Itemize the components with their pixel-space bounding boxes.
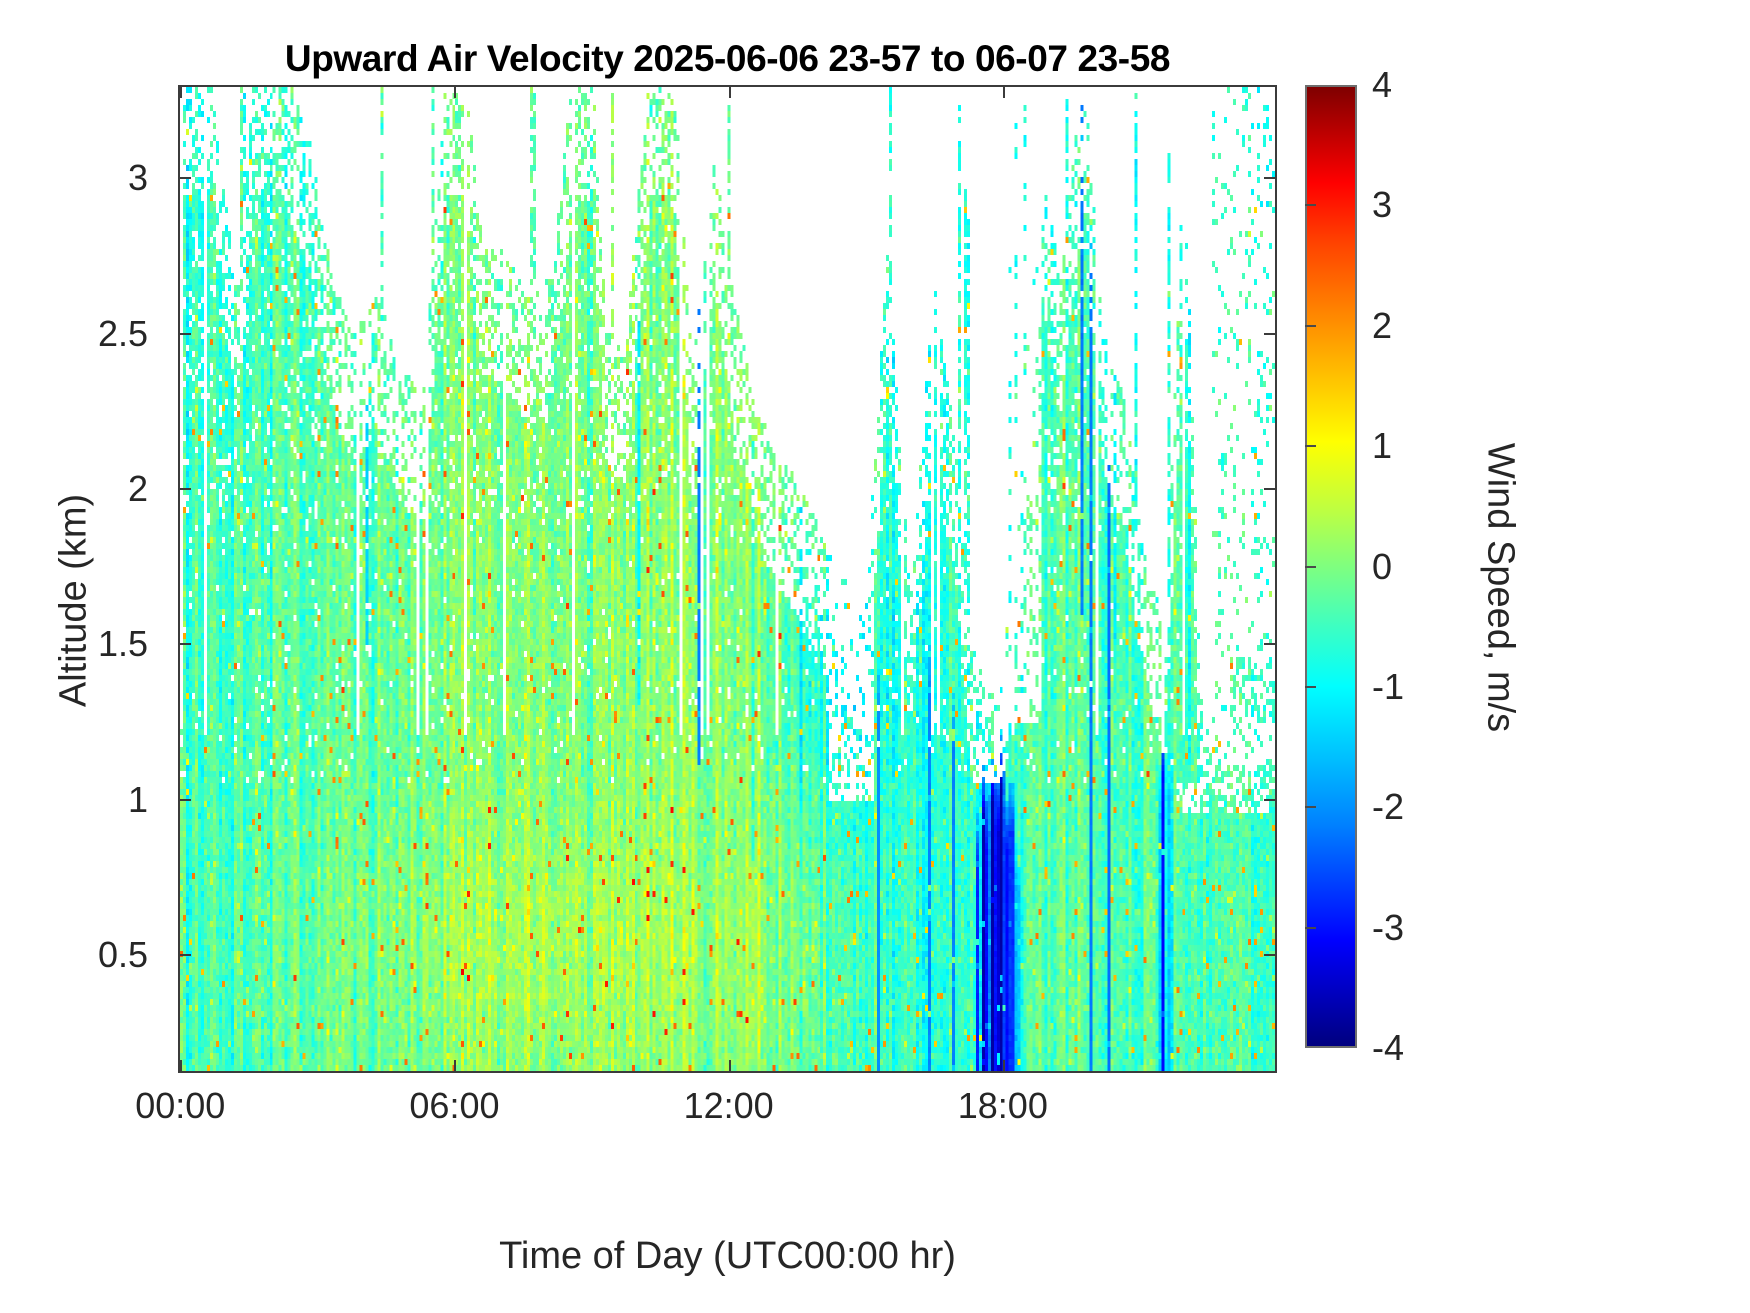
y-tick-mark-right — [1264, 177, 1277, 179]
y-tick-mark-right — [1264, 643, 1277, 645]
y-tick-mark — [178, 333, 191, 335]
colorbar-tick-mark — [1305, 204, 1316, 206]
y-tick-label: 2.5 — [0, 313, 148, 355]
x-tick-mark-top — [729, 85, 731, 98]
x-axis-label: Time of Day (UTC00:00 hr) — [178, 1235, 1277, 1278]
heatmap-image — [180, 87, 1275, 1071]
y-tick-mark-right — [1264, 799, 1277, 801]
y-tick-mark — [178, 488, 191, 490]
x-tick-label: 18:00 — [903, 1085, 1103, 1127]
colorbar-tick-label: 4 — [1372, 64, 1392, 106]
colorbar-tick-label: -4 — [1372, 1027, 1404, 1069]
y-tick-mark — [178, 177, 191, 179]
x-tick-mark — [454, 1060, 456, 1073]
colorbar-tick-mark — [1305, 686, 1316, 688]
y-tick-mark-right — [1264, 488, 1277, 490]
x-tick-mark — [180, 1060, 182, 1073]
y-tick-mark-right — [1264, 333, 1277, 335]
colorbar-label: Wind Speed, m/s — [1479, 328, 1522, 848]
x-tick-label: 12:00 — [629, 1085, 829, 1127]
colorbar-tick-label: -1 — [1372, 666, 1404, 708]
x-tick-mark-top — [454, 85, 456, 98]
y-axis-label: Altitude (km) — [53, 351, 96, 851]
x-tick-mark-top — [180, 85, 182, 98]
y-tick-mark — [178, 799, 191, 801]
x-tick-mark — [729, 1060, 731, 1073]
x-tick-label: 00:00 — [80, 1085, 280, 1127]
colorbar-tick-label: 3 — [1372, 184, 1392, 226]
heatmap-plot-area[interactable] — [178, 85, 1277, 1073]
colorbar-tick-mark — [1305, 806, 1316, 808]
colorbar-tick-mark — [1305, 445, 1316, 447]
figure-canvas: Upward Air Velocity 2025-06-06 23-57 to … — [0, 0, 1750, 1313]
colorbar-tick-label: -2 — [1372, 786, 1404, 828]
x-tick-mark — [1003, 1060, 1005, 1073]
y-tick-mark — [178, 954, 191, 956]
x-tick-label: 06:00 — [354, 1085, 554, 1127]
colorbar-tick-label: 1 — [1372, 425, 1392, 467]
y-tick-label: 3 — [0, 157, 148, 199]
y-tick-mark-right — [1264, 954, 1277, 956]
colorbar-tick-mark — [1305, 927, 1316, 929]
y-tick-mark — [178, 643, 191, 645]
x-tick-mark-top — [1003, 85, 1005, 98]
colorbar-tick-mark — [1305, 325, 1316, 327]
page-title: Upward Air Velocity 2025-06-06 23-57 to … — [178, 38, 1277, 80]
colorbar-tick-label: 2 — [1372, 305, 1392, 347]
colorbar-tick-mark — [1305, 566, 1316, 568]
y-tick-label: 0.5 — [0, 934, 148, 976]
colorbar-tick-label: 0 — [1372, 546, 1392, 588]
colorbar-tick-label: -3 — [1372, 907, 1404, 949]
